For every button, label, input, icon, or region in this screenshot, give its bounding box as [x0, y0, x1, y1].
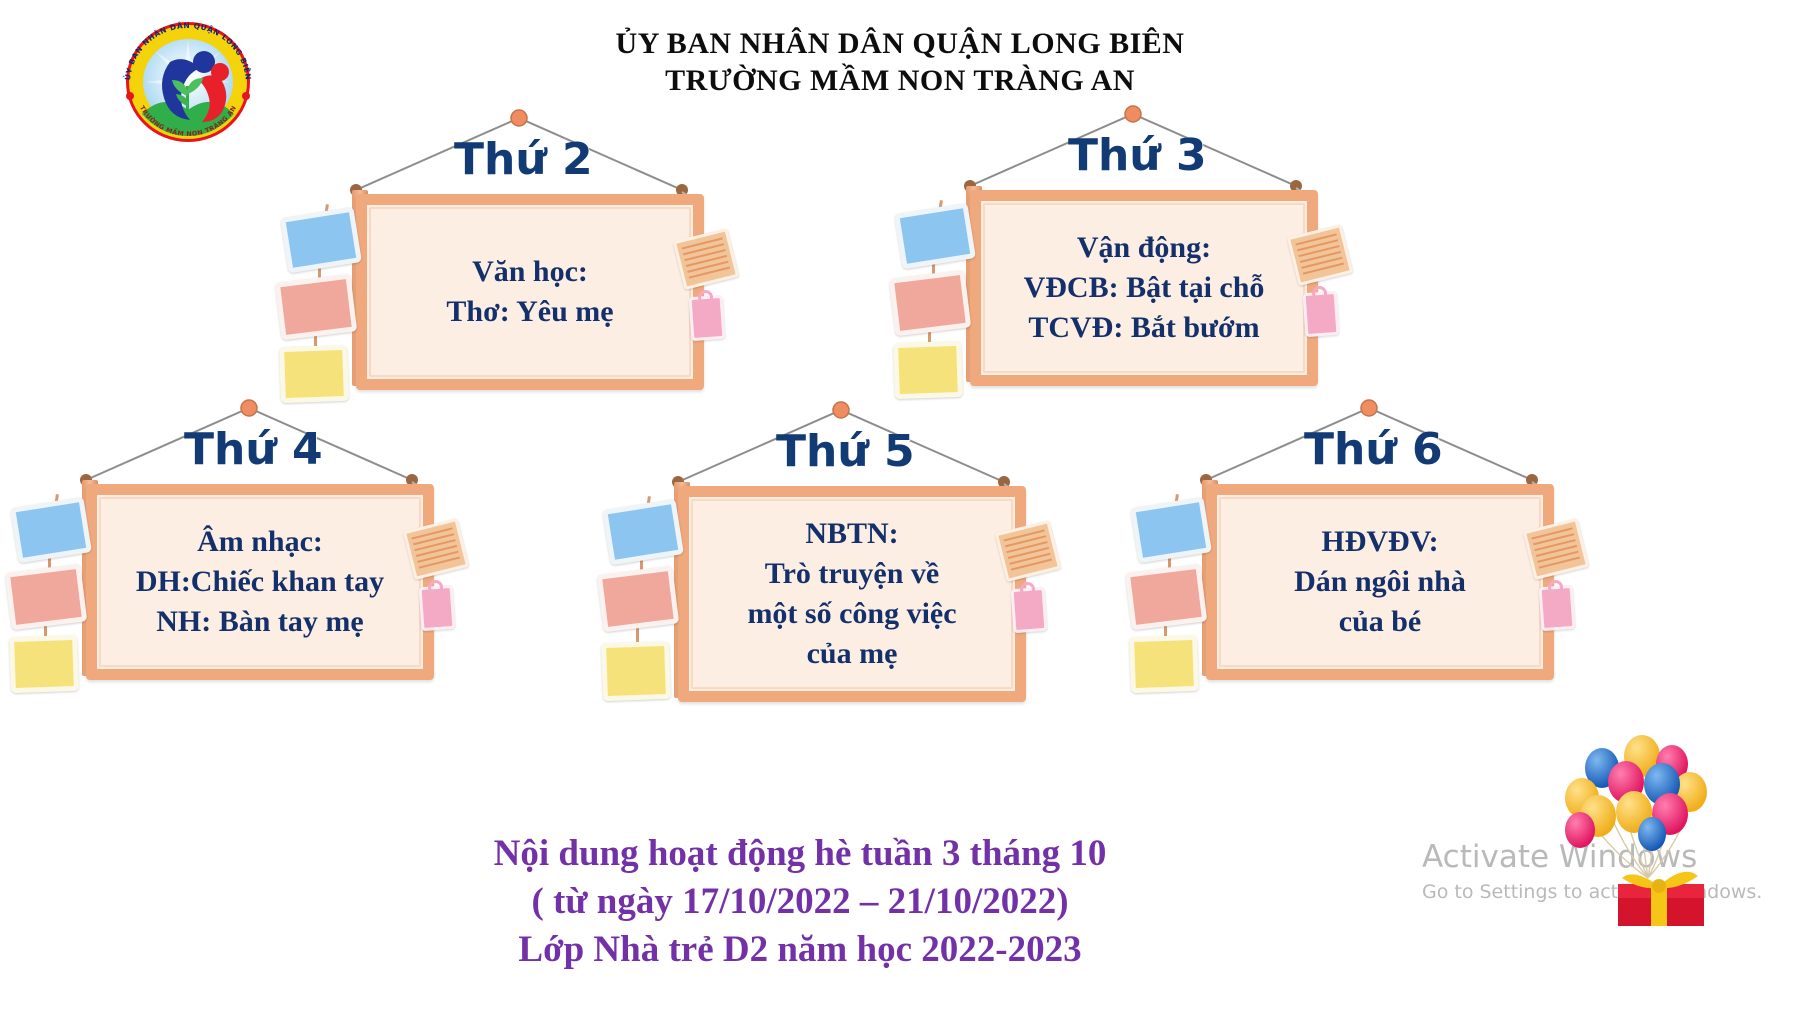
day-board-4: Thứ 5 NBTN: Trò truyện về một số công vi…: [598, 400, 1118, 720]
footer-caption: Nội dung hoạt động hè tuần 3 tháng 10 ( …: [300, 830, 1300, 974]
day-label-3: Thứ 4: [184, 424, 323, 475]
notepad-lines-3: [412, 527, 461, 571]
gift-box-icon: [1618, 872, 1704, 926]
day-label-5: Thứ 6: [1304, 424, 1443, 475]
notepad-lines-1: [682, 237, 731, 281]
day-label-1: Thứ 2: [454, 134, 593, 185]
hanging-card-yellow-1: [279, 345, 349, 403]
hanging-card-pink-1: [275, 274, 358, 341]
board-line: TCVĐ: Bắt bướm: [1024, 308, 1265, 348]
board-line: của mẹ: [747, 634, 956, 674]
hanging-card-blue-2: [894, 203, 976, 270]
balloons-icon: [1556, 726, 1766, 926]
poster-canvas: ỦY BAN NHÂN DÂN QUẬN LONG BIÊN TRƯỜNG MẦ…: [0, 0, 1800, 1012]
hanging-card-blue-1: [280, 207, 362, 274]
hanging-tag-4: [1011, 587, 1048, 633]
board-line: Vận động:: [1024, 228, 1265, 268]
board-line: Thơ: Yêu mẹ: [446, 292, 613, 332]
board-content-wrap-2: Vận động: VĐCB: Bật tại chỗ TCVĐ: Bắt bư…: [981, 201, 1307, 375]
board-line: Trò truyện về: [747, 554, 956, 594]
hanging-card-pink-5: [1125, 564, 1208, 631]
board-line: Văn học:: [446, 252, 613, 292]
board-line: NH: Bàn tay mẹ: [136, 602, 384, 642]
hanging-tag-5: [1539, 585, 1576, 631]
board-frame-3: Âm nhạc: DH:Chiếc khan tay NH: Bàn tay m…: [86, 484, 434, 680]
day-board-5: Thứ 6 HĐVĐV: Dán ngôi nhà của bé: [1126, 398, 1646, 698]
board-content-1: Văn học: Thơ: Yêu mẹ: [432, 252, 627, 332]
board-frame-5: HĐVĐV: Dán ngôi nhà của bé: [1206, 484, 1554, 680]
board-content-wrap-1: Văn học: Thơ: Yêu mẹ: [367, 205, 693, 379]
board-content-2: Vận động: VĐCB: Bật tại chỗ TCVĐ: Bắt bư…: [1010, 228, 1279, 349]
hanging-card-blue-5: [1130, 497, 1212, 564]
board-content-wrap-4: NBTN: Trò truyện về một số công việc của…: [689, 497, 1015, 691]
day-label-4: Thứ 5: [776, 426, 915, 477]
balloons-gift-decoration: [1556, 726, 1766, 926]
hanging-tag-3: [419, 585, 456, 631]
hanging-card-blue-3: [10, 497, 92, 564]
footer-line-1: Nội dung hoạt động hè tuần 3 tháng 10: [300, 830, 1300, 878]
hanging-tag-2: [1303, 291, 1340, 337]
board-content-5: HĐVĐV: Dán ngôi nhà của bé: [1280, 522, 1480, 643]
board-content-4: NBTN: Trò truyện về một số công việc của…: [733, 514, 970, 675]
board-line: VĐCB: Bật tại chỗ: [1024, 268, 1265, 308]
page-title: ỦY BAN NHÂN DÂN QUẬN LONG BIÊN TRƯỜNG MẦ…: [300, 26, 1500, 99]
hanging-card-blue-4: [602, 499, 684, 566]
footer-line-2: ( từ ngày 17/10/2022 – 21/10/2022): [300, 878, 1300, 926]
notepad-lines-5: [1532, 527, 1581, 571]
board-line: của bé: [1294, 602, 1466, 642]
notepad-lines-4: [1004, 529, 1053, 573]
hanging-card-yellow-5: [1129, 635, 1199, 693]
board-line: DH:Chiếc khan tay: [136, 562, 384, 602]
hanging-card-yellow-4: [601, 641, 671, 701]
day-board-1: Thứ 2 Văn học: Thơ: Yêu mẹ: [276, 108, 796, 408]
hanging-card-pink-4: [597, 566, 680, 633]
board-line: một số công việc: [747, 594, 956, 634]
hanging-tag-1: [689, 295, 726, 341]
board-line: HĐVĐV:: [1294, 522, 1466, 562]
board-line: Dán ngôi nhà: [1294, 562, 1466, 602]
hanging-card-pink-3: [5, 564, 88, 631]
board-line: Âm nhạc:: [136, 522, 384, 562]
board-content-wrap-5: HĐVĐV: Dán ngôi nhà của bé: [1217, 495, 1543, 669]
board-frame-1: Văn học: Thơ: Yêu mẹ: [356, 194, 704, 390]
board-content-3: Âm nhạc: DH:Chiếc khan tay NH: Bàn tay m…: [122, 522, 398, 643]
day-board-3: Thứ 4 Âm nhạc: DH:Chiếc khan tay NH: Bàn…: [6, 398, 526, 698]
hanging-card-yellow-3: [9, 635, 79, 693]
notepad-lines-2: [1296, 233, 1345, 277]
day-label-2: Thứ 3: [1068, 130, 1207, 181]
school-logo: ỦY BAN NHÂN DÂN QUẬN LONG BIÊN TRƯỜNG MẦ…: [108, 18, 268, 142]
page-title-line1: ỦY BAN NHÂN DÂN QUẬN LONG BIÊN: [300, 26, 1500, 63]
page-title-line2: TRƯỜNG MẦM NON TRÀNG AN: [300, 63, 1500, 100]
board-content-wrap-3: Âm nhạc: DH:Chiếc khan tay NH: Bàn tay m…: [97, 495, 423, 669]
hanging-card-pink-2: [889, 270, 972, 337]
board-line: NBTN:: [747, 514, 956, 554]
board-frame-4: NBTN: Trò truyện về một số công việc của…: [678, 486, 1026, 702]
hanging-card-yellow-2: [893, 341, 963, 399]
day-board-2: Thứ 3 Vận động: VĐCB: Bật tại chỗ TCVĐ: …: [890, 104, 1410, 404]
board-frame-2: Vận động: VĐCB: Bật tại chỗ TCVĐ: Bắt bư…: [970, 190, 1318, 386]
footer-line-3: Lớp Nhà trẻ D2 năm học 2022-2023: [300, 926, 1300, 974]
